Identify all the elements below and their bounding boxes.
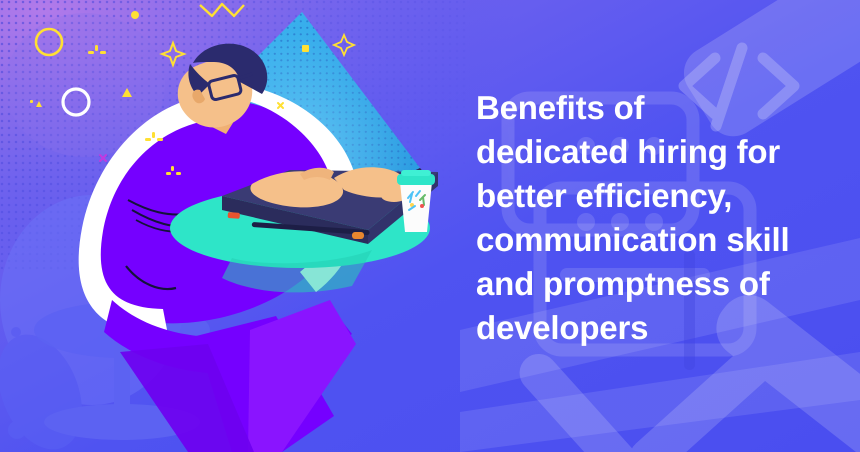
four-point-star-icon <box>162 43 184 65</box>
zigzag-icon <box>200 4 244 16</box>
page-title: Benefits of dedicated hiring for better … <box>476 86 846 350</box>
hero-banner: Benefits of dedicated hiring for better … <box>0 0 860 452</box>
